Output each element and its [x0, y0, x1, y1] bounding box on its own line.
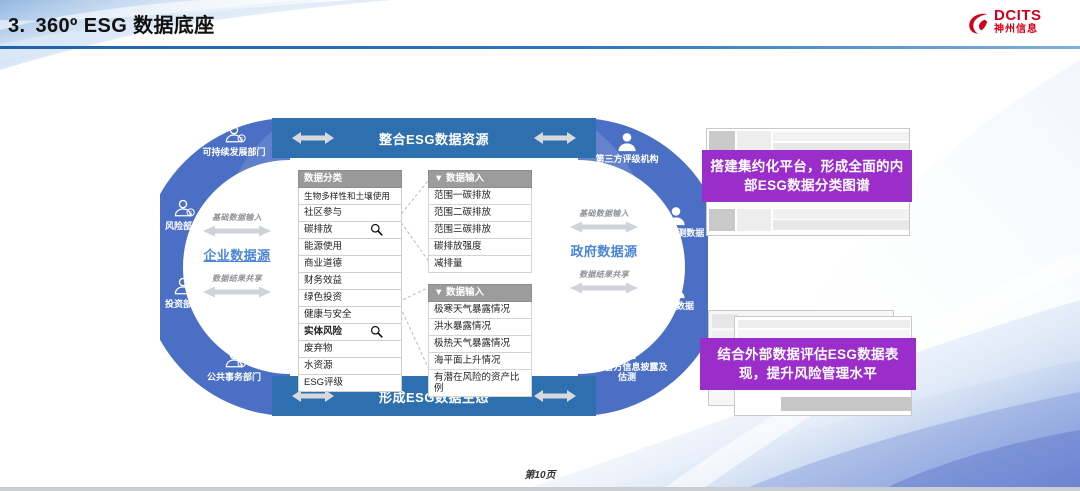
callout-banner: 搭建集约化平台，形成全面的内部ESG数据分类图谱	[702, 150, 912, 202]
node-sustainability-dept[interactable]: S 可持续发展部门	[191, 124, 277, 157]
table-row[interactable]: 极热天气暴露情况	[428, 336, 532, 353]
table-header[interactable]: ▼ 数据输入	[428, 284, 532, 302]
double-arrow-icon	[568, 220, 640, 234]
table-connectors	[398, 170, 432, 400]
table-row[interactable]: 财务效益	[298, 273, 402, 290]
double-arrow-icon	[201, 285, 273, 299]
row-text: 社区参与	[304, 207, 342, 218]
table-row[interactable]: 减排量	[428, 256, 532, 273]
enterprise-source-column: 基础数据输入 企业数据源 数据结果共享	[182, 212, 292, 304]
brand-logo: DCITS 神州信息	[966, 6, 1070, 42]
table-row[interactable]: ESG评级	[298, 375, 402, 392]
svg-text:S: S	[240, 362, 244, 368]
node-label: 政府数据	[633, 301, 719, 311]
table-row[interactable]: 范围二碳排放	[428, 205, 532, 222]
table-row[interactable]: 生物多样性和土壤使用	[298, 188, 402, 205]
callout-external-data: 结合外部数据评估ESG数据表现，提升风险管理水平	[708, 310, 914, 416]
callout-platform: 搭建集约化平台，形成全面的内部ESG数据分类图谱	[706, 128, 910, 236]
table-row[interactable]: 水资源	[298, 358, 402, 375]
ghost-column	[709, 209, 735, 231]
person-outline-icon: S	[221, 124, 247, 146]
ghost-column	[737, 209, 771, 231]
government-source-label: 政府数据源	[549, 241, 659, 260]
ghost-row	[781, 397, 911, 411]
header-divider	[0, 46, 1080, 49]
table-row[interactable]: 范围一碳排放	[428, 188, 532, 205]
node-public-affairs-dept[interactable]: S 公共事务部门	[191, 349, 277, 382]
table-row[interactable]: 实体风险	[298, 324, 402, 341]
page-title-number: 3.	[8, 15, 25, 37]
person-solid-icon	[615, 340, 639, 361]
magnifier-icon[interactable]	[370, 325, 383, 338]
ghost-row	[773, 132, 909, 141]
page-title: 3.360º ESG 数据底座	[8, 9, 215, 38]
flow-label-input: 基础数据输入	[549, 208, 659, 219]
banner-integrate-label: 整合ESG数据资源	[379, 129, 489, 148]
data-input-carbon-table: ▼ 数据输入 范围一碳排放 范围二碳排放 范围三碳排放 碳排放强度 减排量	[428, 170, 532, 273]
banner-integrate: 整合ESG数据资源	[272, 118, 596, 158]
data-input-risk-table: ▼ 数据输入 极寒天气暴露情况 洪水暴露情况 极热天气暴露情况 海平面上升情况 …	[428, 284, 532, 397]
page-title-text: 360º ESG 数据底座	[35, 15, 214, 37]
flow-label-share: 数据结果共享	[549, 269, 659, 280]
table-row[interactable]: 海平面上升情况	[428, 353, 532, 370]
node-label: 第三方评级机构	[584, 154, 670, 164]
table-row[interactable]: 碳排放强度	[428, 239, 532, 256]
table-header: 数据分类	[298, 170, 402, 188]
table-row[interactable]: 有潜在风险的资产比例	[428, 370, 532, 397]
node-label: 客户官方信息披露及估测	[584, 362, 670, 382]
callout-text: 结合外部数据评估ESG数据表现，提升风险管理水平	[708, 345, 908, 383]
table-header[interactable]: ▼ 数据输入	[428, 170, 532, 188]
logo-main-text: DCITS	[994, 8, 1042, 24]
category-rows: 生物多样性和土壤使用 社区参与 碳排放 能源使用 商业道德 财务效益 绿色投资 …	[298, 188, 402, 392]
slide-header: 3.360º ESG 数据底座 DCITS 神州信息	[0, 0, 1080, 48]
table-row[interactable]: 洪水暴露情况	[428, 319, 532, 336]
logo-wordmark: DCITS 神州信息	[994, 8, 1042, 36]
table-row[interactable]: 范围三碳排放	[428, 222, 532, 239]
table-row[interactable]: 绿色投资	[298, 290, 402, 307]
data-category-table: 数据分类 生物多样性和土壤使用 社区参与 碳排放 能源使用 商业道德 财务效益 …	[298, 170, 402, 392]
government-source-column: 基础数据输入 政府数据源 数据结果共享	[549, 208, 659, 300]
person-solid-icon	[664, 206, 688, 227]
row-text: 碳排放	[304, 224, 333, 235]
table-row[interactable]: 社区参与	[298, 205, 402, 222]
flow-label-share: 数据结果共享	[182, 273, 292, 284]
double-arrow-icon	[201, 224, 273, 238]
ghost-row	[738, 330, 910, 338]
row-text: 实体风险	[304, 326, 342, 337]
magnifier-icon[interactable]	[370, 223, 383, 236]
double-arrow-icon	[568, 281, 640, 295]
enterprise-source-label: 企业数据源	[182, 245, 292, 264]
logo-sub-text: 神州信息	[994, 24, 1042, 36]
double-arrow-icon	[290, 130, 336, 146]
table-row[interactable]: 健康与安全	[298, 307, 402, 324]
callout-banner: 结合外部数据评估ESG数据表现，提升风险管理水平	[700, 338, 916, 390]
page-number: 第10页	[0, 466, 1080, 481]
double-arrow-icon	[532, 130, 578, 146]
node-label: 公共事务部门	[191, 372, 277, 382]
ghost-row	[773, 220, 909, 230]
person-solid-icon	[615, 132, 639, 153]
flow-label-input: 基础数据输入	[182, 212, 292, 223]
slide: 3.360º ESG 数据底座 DCITS 神州信息	[0, 0, 1080, 491]
node-label: 可持续发展部门	[191, 147, 277, 157]
table-row[interactable]: 商业道德	[298, 256, 402, 273]
table-row[interactable]: 能源使用	[298, 239, 402, 256]
svg-text:S: S	[240, 137, 244, 143]
esg-cycle-diagram: 整合ESG数据资源 形成ESG数据生态 S 可持续发展部门	[160, 112, 708, 422]
double-arrow-icon	[532, 388, 578, 404]
ghost-row	[773, 209, 909, 219]
person-solid-icon	[664, 279, 688, 300]
table-row[interactable]: 极寒天气暴露情况	[428, 302, 532, 319]
person-outline-icon: S	[221, 349, 247, 371]
table-row[interactable]: 废弃物	[298, 341, 402, 358]
ghost-row	[738, 320, 910, 328]
table-row[interactable]: 碳排放	[298, 222, 402, 239]
dcits-swirl-icon	[966, 10, 992, 36]
node-third-party-rating[interactable]: 第三方评级机构	[584, 132, 670, 164]
callout-text: 搭建集约化平台，形成全面的内部ESG数据分类图谱	[710, 157, 904, 195]
node-customer-disclosure[interactable]: 客户官方信息披露及估测	[584, 340, 670, 382]
